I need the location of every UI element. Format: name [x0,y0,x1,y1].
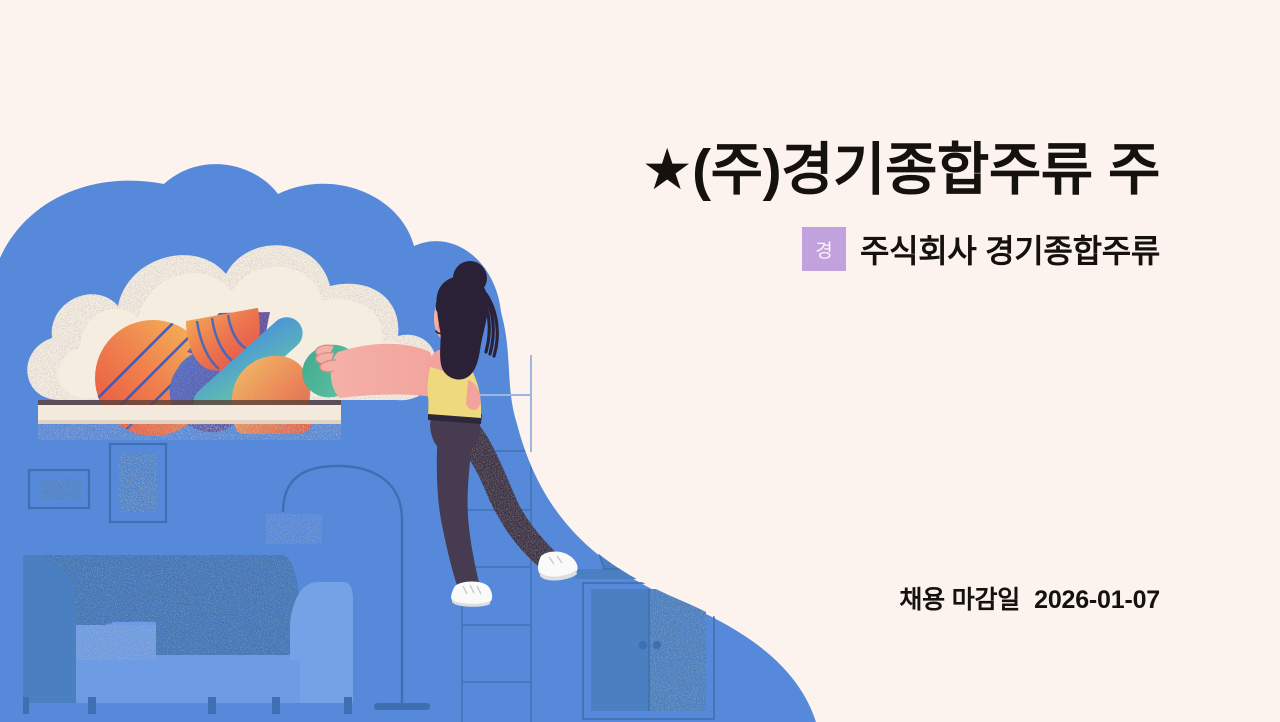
deadline-date: 2026-01-07 [1034,586,1160,615]
cabinet-knob-right [653,641,661,649]
sneaker-front [451,582,492,607]
deadline-label: 채용 마감일 [899,580,1020,616]
deadline-row: 채용 마감일 2026-01-07 [899,580,1160,616]
cabinet-knob-left [639,641,647,649]
page-title: ★(주)경기종합주류 주 [100,138,1160,204]
company-badge: 경 [802,227,846,271]
company-name: 주식회사 경기종합주류 [860,226,1160,272]
job-posting-banner: ★(주)경기종합주류 주 경 주식회사 경기종합주류 채용 마감일 2026-0… [0,0,1280,722]
lamp-glow [266,514,322,544]
shelf-board [38,400,341,424]
lamp-base [374,703,430,710]
company-row: 경 주식회사 경기종합주류 [802,226,1160,272]
